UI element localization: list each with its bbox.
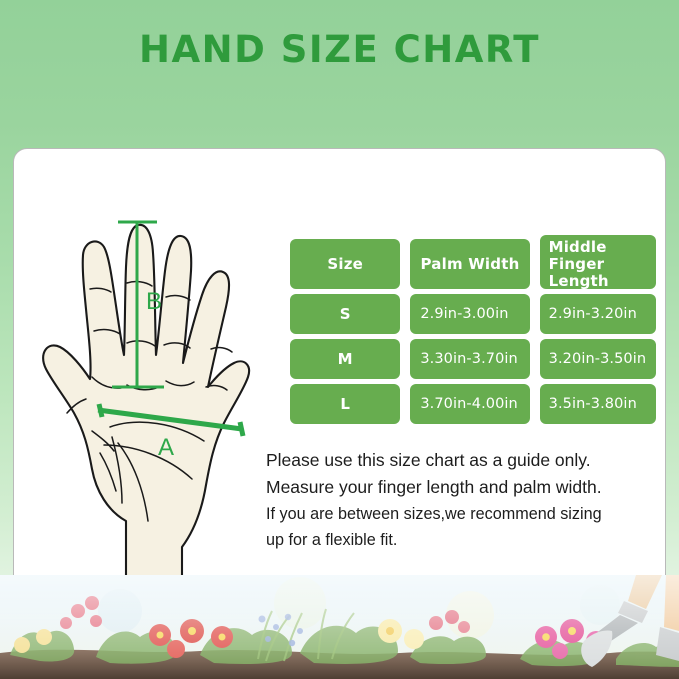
header-cell-size: Size [290,239,400,289]
cell-palm-width-l: 3.70in-4.00in [410,384,529,424]
page-title: HAND SIZE CHART [139,30,540,71]
page-title-container: HAND SIZE CHART [0,30,679,71]
table-row: M 3.30in-3.70in 3.20in-3.50in [290,339,656,379]
hand-measurement-diagram: B A [26,191,288,583]
header-cell-palm-width: Palm Width [410,239,529,289]
hand-size-chart-page: HAND SIZE CHART [0,0,679,679]
svg-text:B: B [146,288,162,315]
note-line-3: If you are between sizes,we recommend si… [266,504,666,525]
header-finger-line1: Middle [549,239,656,256]
cell-finger-length-l: 3.5in-3.80in [540,384,656,424]
cell-size-s: S [290,294,400,334]
cell-finger-length-s: 2.9in-3.20in [540,294,656,334]
table-row: L 3.70in-4.00in 3.5in-3.80in [290,384,656,424]
note-line-4: up for a flexible fit. [266,530,666,551]
size-guidance-note: Please use this size chart as a guide on… [266,449,666,550]
table-row: S 2.9in-3.00in 2.9in-3.20in [290,294,656,334]
cell-palm-width-m: 3.30in-3.70in [410,339,529,379]
header-cell-middle-finger-length: Middle Finger Length [540,235,656,289]
garden-photo-strip [0,575,679,679]
size-table: Size Palm Width Middle Finger Length S 2… [290,239,656,429]
note-line-1: Please use this size chart as a guide on… [266,449,666,471]
table-header-row: Size Palm Width Middle Finger Length [290,239,656,289]
note-line-2: Measure your finger length and palm widt… [266,476,666,498]
cell-finger-length-m: 3.20in-3.50in [540,339,656,379]
header-finger-line2: Finger Length [549,256,656,290]
cell-size-l: L [290,384,400,424]
content-card: B A Size Palm Width Middle Finger Length [13,148,666,596]
cell-size-m: M [290,339,400,379]
cell-palm-width-s: 2.9in-3.00in [410,294,529,334]
svg-text:A: A [158,434,174,461]
